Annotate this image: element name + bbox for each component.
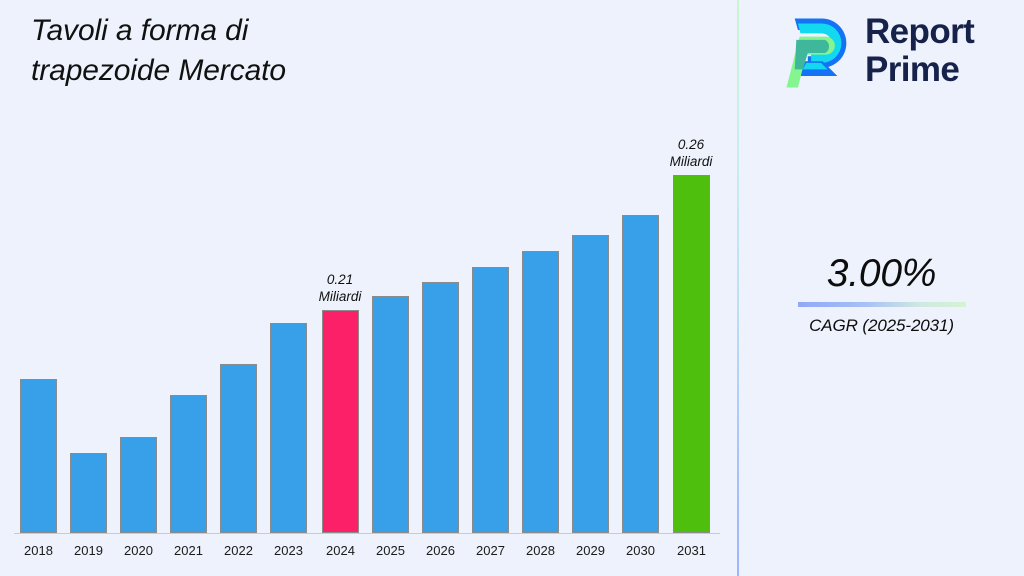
bar-2022[interactable]: [220, 364, 257, 533]
x-tick-2027: 2027: [464, 543, 517, 558]
cagr-divider: [798, 302, 966, 307]
chart-panel: Tavoli a forma di trapezoide Mercato 0.2…: [0, 0, 737, 576]
x-tick-2031: 2031: [665, 543, 718, 558]
bar-2024[interactable]: [322, 310, 359, 533]
cagr-value: 3.00%: [739, 252, 1024, 296]
bar-2028[interactable]: [522, 251, 559, 533]
x-tick-2028: 2028: [514, 543, 567, 558]
bar-value-label-2024: 0.21 Miliardi: [300, 272, 380, 305]
bar-2019[interactable]: [70, 453, 107, 533]
logo-wordmark: Report Prime: [865, 13, 974, 89]
x-tick-2030: 2030: [614, 543, 667, 558]
report-prime-logo: Report Prime: [775, 8, 1015, 100]
bar-2025[interactable]: [372, 296, 409, 533]
summary-panel: Report Prime 3.00% CAGR (2025-2031): [739, 0, 1024, 576]
x-tick-2020: 2020: [112, 543, 165, 558]
x-tick-2024: 2024: [314, 543, 367, 558]
bar-2031[interactable]: [673, 175, 710, 533]
chart-page: Tavoli a forma di trapezoide Mercato 0.2…: [0, 0, 1024, 576]
bar-chart-plot: 0.21 Miliardi0.26 Miliardi 2018201920202…: [0, 0, 737, 576]
bar-2023[interactable]: [270, 323, 307, 533]
cagr-caption: CAGR (2025-2031): [739, 316, 1024, 336]
x-tick-2025: 2025: [364, 543, 417, 558]
x-tick-2022: 2022: [212, 543, 265, 558]
bar-2030[interactable]: [622, 215, 659, 533]
bar-value-label-2031: 0.26 Miliardi: [651, 137, 731, 170]
x-tick-2026: 2026: [414, 543, 467, 558]
report-prime-logo-mark-icon: [775, 12, 857, 94]
x-tick-2021: 2021: [162, 543, 215, 558]
bar-2018[interactable]: [20, 379, 57, 533]
cagr-block: 3.00% CAGR (2025-2031): [739, 252, 1024, 336]
bar-2029[interactable]: [572, 235, 609, 533]
bar-2020[interactable]: [120, 437, 157, 533]
bar-2026[interactable]: [422, 282, 459, 533]
bar-2027[interactable]: [472, 267, 509, 533]
bar-2021[interactable]: [170, 395, 207, 533]
x-tick-2029: 2029: [564, 543, 617, 558]
x-tick-2019: 2019: [62, 543, 115, 558]
x-tick-2018: 2018: [12, 543, 65, 558]
x-tick-2023: 2023: [262, 543, 315, 558]
x-axis-line: [14, 533, 720, 534]
